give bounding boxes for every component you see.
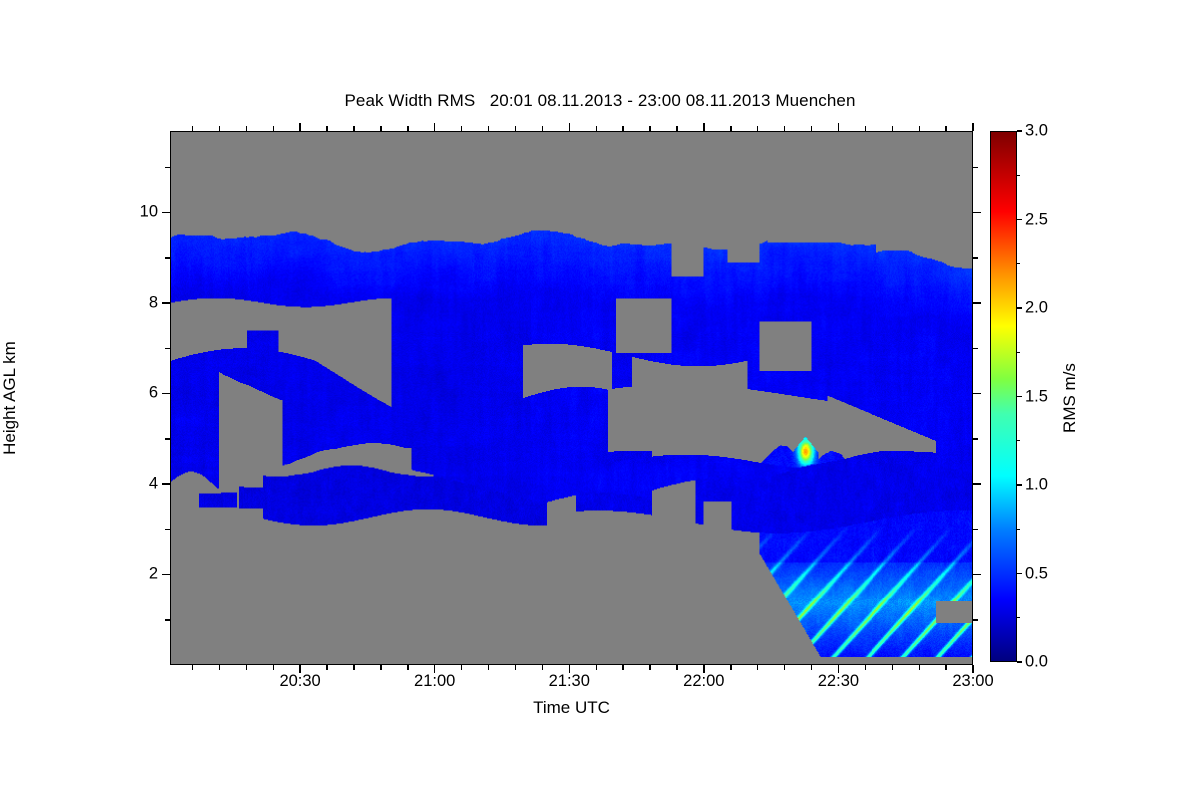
y-tick-minor-right bbox=[973, 438, 978, 439]
page-title: Peak Width RMS 20:01 08.11.2013 - 23:00 … bbox=[0, 91, 1200, 111]
x-tick-minor-top bbox=[784, 126, 785, 131]
y-tick-minor-right bbox=[973, 348, 978, 349]
colorbar-minor-tick bbox=[1017, 175, 1020, 176]
y-tick-minor bbox=[165, 619, 170, 620]
x-tick-minor bbox=[622, 665, 623, 670]
x-tick-major-top bbox=[838, 123, 839, 131]
x-tick-label: 22:00 bbox=[683, 672, 724, 691]
x-tick-minor bbox=[811, 665, 812, 670]
x-tick-major-top bbox=[434, 123, 435, 131]
x-tick-minor bbox=[246, 665, 247, 670]
y-tick-major bbox=[162, 483, 170, 484]
y-tick-label: 6 bbox=[110, 384, 158, 403]
y-tick-minor bbox=[165, 257, 170, 258]
colorbar-tick bbox=[1017, 307, 1022, 308]
x-tick-minor bbox=[784, 665, 785, 670]
y-tick-minor-right bbox=[973, 167, 978, 168]
x-tick-minor-top bbox=[461, 126, 462, 131]
colorbar-tick-label: 1.5 bbox=[1025, 387, 1048, 406]
x-tick-label: 21:30 bbox=[549, 672, 590, 691]
colorbar-tick bbox=[1017, 573, 1022, 574]
x-tick-minor bbox=[596, 665, 597, 670]
x-tick-major-top bbox=[703, 123, 704, 131]
colorbar-minor-tick bbox=[1017, 263, 1020, 264]
y-tick-major-right bbox=[973, 483, 981, 484]
x-tick-minor bbox=[757, 665, 758, 670]
colorbar-tick-label: 2.0 bbox=[1025, 299, 1048, 318]
x-tick-minor-top bbox=[273, 126, 274, 131]
x-tick-minor bbox=[676, 665, 677, 670]
x-tick-minor-top bbox=[622, 126, 623, 131]
colorbar-minor-tick bbox=[1017, 617, 1020, 618]
colorbar-tick bbox=[1017, 130, 1022, 131]
x-tick-minor bbox=[192, 665, 193, 670]
x-tick-minor-top bbox=[326, 126, 327, 131]
y-tick-major-right bbox=[973, 302, 981, 303]
y-tick-minor-right bbox=[973, 529, 978, 530]
x-tick-minor-top bbox=[380, 126, 381, 131]
colorbar-tick-label: 0.0 bbox=[1025, 653, 1048, 672]
x-tick-minor bbox=[380, 665, 381, 670]
x-tick-minor-top bbox=[649, 126, 650, 131]
x-tick-minor bbox=[945, 665, 946, 670]
y-tick-label: 8 bbox=[110, 293, 158, 312]
x-tick-minor-top bbox=[246, 126, 247, 131]
y-tick-major-right bbox=[973, 574, 981, 575]
colorbar-tick bbox=[1017, 396, 1022, 397]
figure-canvas: Peak Width RMS 20:01 08.11.2013 - 23:00 … bbox=[0, 0, 1200, 800]
y-tick-label: 4 bbox=[110, 474, 158, 493]
x-tick-minor bbox=[919, 665, 920, 670]
colorbar-tick bbox=[1017, 661, 1022, 662]
heatmap-plot-area[interactable] bbox=[170, 131, 973, 665]
x-tick-minor-top bbox=[865, 126, 866, 131]
x-tick-minor-top bbox=[676, 126, 677, 131]
x-axis-label: Time UTC bbox=[170, 698, 973, 718]
x-tick-minor bbox=[353, 665, 354, 670]
y-tick-major-right bbox=[973, 212, 981, 213]
y-tick-minor bbox=[165, 529, 170, 530]
x-tick-major-top bbox=[569, 123, 570, 131]
x-tick-label: 23:00 bbox=[952, 672, 993, 691]
x-tick-minor-top bbox=[542, 126, 543, 131]
x-tick-minor bbox=[730, 665, 731, 670]
y-tick-minor-right bbox=[973, 619, 978, 620]
x-tick-minor bbox=[219, 665, 220, 670]
x-tick-minor bbox=[407, 665, 408, 670]
x-tick-minor bbox=[865, 665, 866, 670]
colorbar-minor-tick bbox=[1017, 529, 1020, 530]
x-tick-minor-top bbox=[945, 126, 946, 131]
colorbar-tick bbox=[1017, 219, 1022, 220]
x-tick-minor bbox=[515, 665, 516, 670]
y-tick-minor bbox=[165, 348, 170, 349]
x-tick-minor-top bbox=[919, 126, 920, 131]
colorbar-minor-tick bbox=[1017, 352, 1020, 353]
x-tick-minor-top bbox=[811, 126, 812, 131]
colorbar[interactable] bbox=[990, 131, 1017, 662]
colorbar-tick bbox=[1017, 484, 1022, 485]
x-tick-minor-top bbox=[730, 126, 731, 131]
y-tick-major-right bbox=[973, 393, 981, 394]
x-tick-minor-top bbox=[353, 126, 354, 131]
x-tick-minor bbox=[273, 665, 274, 670]
y-tick-major bbox=[162, 212, 170, 213]
x-tick-minor bbox=[488, 665, 489, 670]
y-tick-label: 2 bbox=[110, 565, 158, 584]
y-tick-major bbox=[162, 393, 170, 394]
x-tick-label: 20:30 bbox=[279, 672, 320, 691]
x-tick-minor bbox=[326, 665, 327, 670]
y-tick-minor bbox=[165, 167, 170, 168]
x-tick-label: 21:00 bbox=[414, 672, 455, 691]
x-tick-minor bbox=[892, 665, 893, 670]
x-tick-minor-top bbox=[219, 126, 220, 131]
x-tick-minor-top bbox=[407, 126, 408, 131]
x-tick-label: 22:30 bbox=[818, 672, 859, 691]
x-tick-minor bbox=[649, 665, 650, 670]
colorbar-gradient bbox=[991, 132, 1016, 661]
x-tick-minor-top bbox=[757, 126, 758, 131]
x-tick-minor-top bbox=[892, 126, 893, 131]
x-tick-minor-top bbox=[515, 126, 516, 131]
y-tick-minor bbox=[165, 438, 170, 439]
x-tick-major-top bbox=[972, 123, 973, 131]
colorbar-tick-label: 1.0 bbox=[1025, 476, 1048, 495]
x-tick-major-top bbox=[299, 123, 300, 131]
x-tick-minor-top bbox=[488, 126, 489, 131]
colorbar-tick-label: 2.5 bbox=[1025, 210, 1048, 229]
y-tick-label: 10 bbox=[110, 203, 158, 222]
colorbar-minor-tick bbox=[1017, 440, 1020, 441]
peak-width-rms-heatmap bbox=[171, 132, 972, 664]
colorbar-label: RMS m/s bbox=[1060, 298, 1080, 498]
x-tick-minor-top bbox=[192, 126, 193, 131]
x-tick-minor bbox=[542, 665, 543, 670]
y-tick-major bbox=[162, 302, 170, 303]
colorbar-tick-label: 0.5 bbox=[1025, 564, 1048, 583]
y-tick-minor-right bbox=[973, 257, 978, 258]
y-axis-label: Height AGL km bbox=[0, 298, 20, 498]
colorbar-tick-label: 3.0 bbox=[1025, 122, 1048, 141]
y-tick-major bbox=[162, 574, 170, 575]
x-tick-minor bbox=[461, 665, 462, 670]
x-tick-minor-top bbox=[596, 126, 597, 131]
